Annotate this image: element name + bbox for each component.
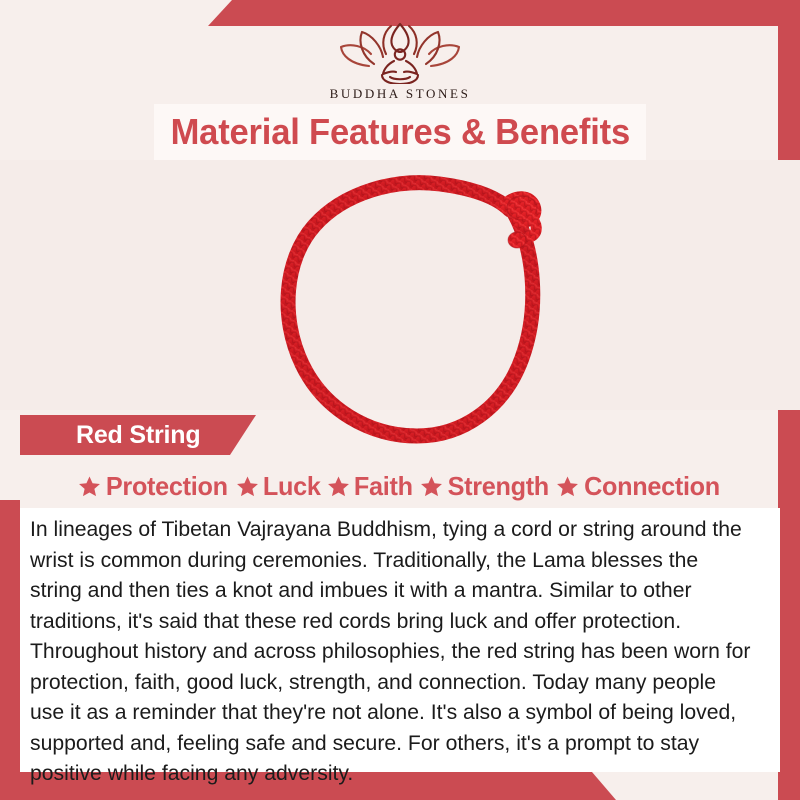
benefit-label: Connection	[584, 471, 720, 502]
description-text: In lineages of Tibetan Vajrayana Buddhis…	[30, 514, 755, 789]
star-icon	[420, 475, 443, 498]
benefit-label: Strength	[447, 471, 548, 502]
star-icon	[78, 475, 101, 498]
benefit-label: Luck	[262, 471, 320, 502]
title-banner: Material Features & Benefits	[154, 104, 646, 160]
brand-wordmark: BUDDHA STONES	[330, 86, 471, 102]
benefit-label: Faith	[354, 471, 413, 502]
star-icon	[327, 475, 350, 498]
benefit-item: Connection	[556, 471, 722, 502]
lotus-meditation-icon	[338, 20, 462, 84]
brand-logo: BUDDHA STONES	[0, 20, 800, 108]
decor-left-red-strip	[0, 500, 20, 800]
benefit-item: Faith	[327, 471, 414, 502]
benefit-item: Strength	[420, 471, 550, 502]
red-string-bracelet-image	[272, 168, 562, 458]
benefit-item: Protection	[78, 471, 230, 502]
benefits-list: Protection Luck Faith Strength Connectio…	[0, 466, 800, 506]
material-label: Red String	[76, 421, 200, 450]
benefit-item: Luck	[236, 471, 321, 502]
product-photo	[0, 160, 800, 410]
star-icon	[556, 475, 579, 498]
star-icon	[236, 475, 259, 498]
benefit-label: Protection	[106, 471, 228, 502]
material-label-banner: Red String	[20, 415, 256, 455]
product-infographic: BUDDHA STONES Material Features & Benefi…	[0, 0, 800, 800]
description-panel: In lineages of Tibetan Vajrayana Buddhis…	[20, 508, 780, 772]
page-title: Material Features & Benefits	[170, 111, 629, 153]
